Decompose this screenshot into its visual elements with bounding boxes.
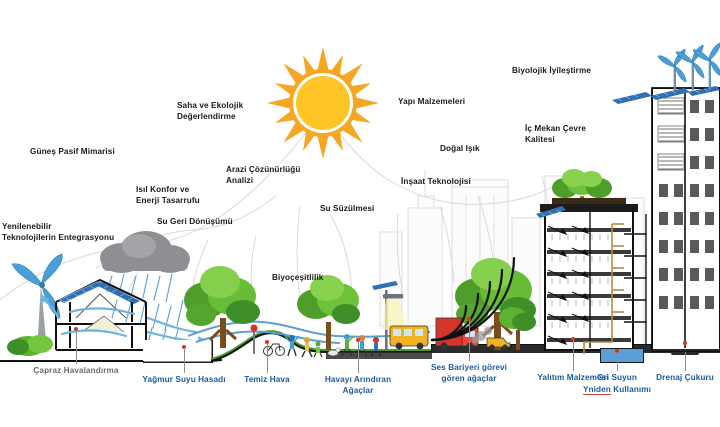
misspelled-word: Yniden	[583, 385, 611, 395]
feature-label-temiz-hava: Temiz Hava	[231, 375, 303, 386]
infographic-canvas: Güneş Pasif MimarisiYenilenebilir Teknol…	[0, 0, 720, 427]
concept-label-yenilenebilir-teknolojiler: Yenilenebilir Teknolojilerin Entegrasyon…	[2, 222, 117, 243]
callout-dot-drenaj	[683, 341, 687, 345]
feature-label-havayi-arindiran: Havayı Arındıran Ağaçlar	[313, 375, 403, 396]
gri-suyun-rest: Kullanımı	[611, 385, 651, 394]
concept-label-biyolojik-iyilestirme: Biyolojik İyileştirme	[512, 66, 622, 77]
feature-label-yagmur-suyu-hasadi: Yağmur Suyu Hasadı	[134, 375, 234, 386]
callout-tick-temiz-hava	[267, 343, 268, 373]
concept-label-ic-mekan-cevre-kalitesi: İç Mekan Çevre Kalitesi	[525, 124, 615, 145]
callout-tick-gri-suyun	[617, 352, 618, 371]
concept-label-insaat-teknolojisi: İnşaat Teknolojisi	[401, 177, 497, 188]
callout-tick-havayi-arindiran	[358, 341, 359, 373]
greywater-tank	[600, 348, 644, 363]
concept-label-su-suzulmesi: Su Süzülmesi	[320, 204, 400, 215]
callout-tick-yalitim-malzemesi	[573, 340, 574, 371]
concept-label-gunes-pasif-mimarisi: Güneş Pasif Mimarisi	[30, 147, 140, 158]
feature-label-drenaj-cukuru: Drenaj Çukuru	[648, 373, 720, 384]
feature-label-capraz-havalandirma: Çapraz Havalandırma	[22, 366, 130, 377]
callout-tick-capraz-havalandirma	[76, 330, 77, 364]
concept-label-arazi-cozunurlugu: Arazi Çözünürlüğü Analizi	[226, 165, 326, 186]
callout-tick-ses-bariyeri	[469, 320, 470, 361]
feature-label-ses-bariyeri: Ses Bariyeri görevi gören ağaçlar	[419, 363, 519, 384]
concept-label-yapi-malzemeleri: Yapı Malzemeleri	[398, 97, 493, 108]
feature-label-gri-suyun: Gri Suyun	[586, 373, 648, 384]
concept-label-su-geri-donusumu: Su Geri Dönüşümü	[157, 217, 257, 228]
concept-label-isil-konfor: Isıl Konfor ve Enerji Tasarrufu	[136, 185, 228, 206]
concept-label-biyocesitlilik: Biyoçeşitlilik	[272, 273, 342, 284]
concept-label-dogal-isik: Doğal Işık	[440, 144, 500, 155]
callout-tick-yagmur-suyu-hasadi	[184, 348, 185, 373]
feature-label-gri-suyun-line2: Yniden Kullanımı	[578, 385, 656, 396]
concept-label-saha-ve-ekolojik: Saha ve Ekolojik Değerlendirme	[177, 101, 272, 122]
callout-tick-drenaj-cukuru	[685, 352, 686, 371]
